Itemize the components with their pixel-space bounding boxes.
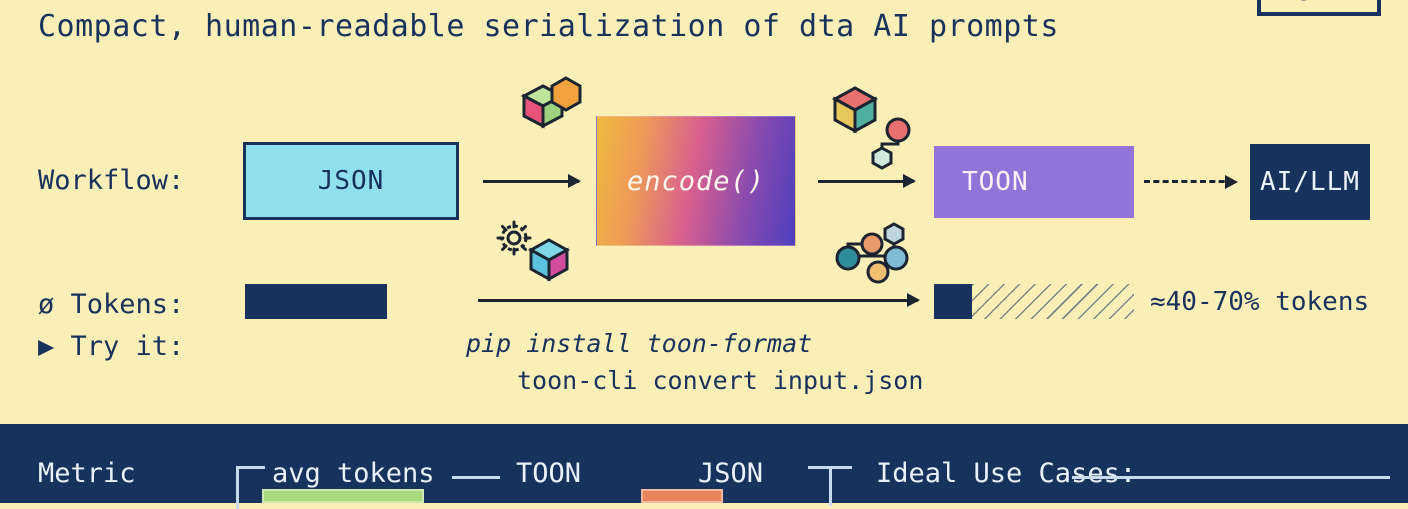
hexagon-orange-icon: [549, 75, 583, 113]
arrow-toon-to-ai-dashed: [1144, 180, 1234, 183]
arrow-tokens-comparison: [478, 299, 918, 302]
node-graph-small-icon: [860, 110, 918, 172]
workflow-label: Workflow:: [38, 165, 184, 196]
rule-ideal-use-cases: [1072, 476, 1390, 479]
tokens-bar-toon: [934, 284, 972, 319]
workflow-node-encode[interactable]: encode(): [596, 116, 796, 246]
tokens-label: ø Tokens:: [38, 289, 184, 320]
infographic-canvas: ON Compact, human-readable serialization…: [0, 0, 1408, 503]
command-pip-install[interactable]: pip install toon-format: [466, 329, 812, 358]
bottom-bar-json: [641, 489, 723, 503]
tokens-bar-json: [245, 284, 387, 319]
bottom-label-toon: TOON: [516, 458, 581, 489]
arrow-json-to-encode: [483, 180, 579, 183]
bottom-label-avg-tokens: avg tokens: [272, 458, 435, 489]
workflow-node-json[interactable]: JSON: [243, 142, 459, 220]
workflow-node-ai-llm[interactable]: AI/LLM: [1250, 144, 1370, 220]
bottom-label-ideal-use-cases: Ideal Use Cases:: [876, 458, 1136, 489]
brand-logo: ON: [1257, 0, 1381, 16]
bracket-ideal-stem: [829, 466, 833, 506]
bottom-label-metric: Metric: [38, 458, 136, 489]
tokens-savings-text: ≈40-70% tokens: [1150, 287, 1369, 317]
cube-isometric-cyan-magenta-icon: [527, 237, 571, 283]
tokens-savings-hatch: [972, 284, 1134, 319]
workflow-node-toon[interactable]: TOON: [934, 146, 1134, 218]
page-title: Compact, human-readable serialization of…: [38, 9, 1059, 44]
rule-toon: [452, 476, 500, 479]
node-graph-large-icon: [832, 222, 918, 284]
try-it-label: ▶ Try it:: [38, 331, 184, 362]
bottom-label-json: JSON: [698, 458, 763, 489]
arrow-encode-to-toon: [818, 180, 914, 183]
bottom-bar-toon: [262, 489, 424, 503]
command-toon-cli[interactable]: toon-cli convert input.json: [517, 366, 923, 395]
